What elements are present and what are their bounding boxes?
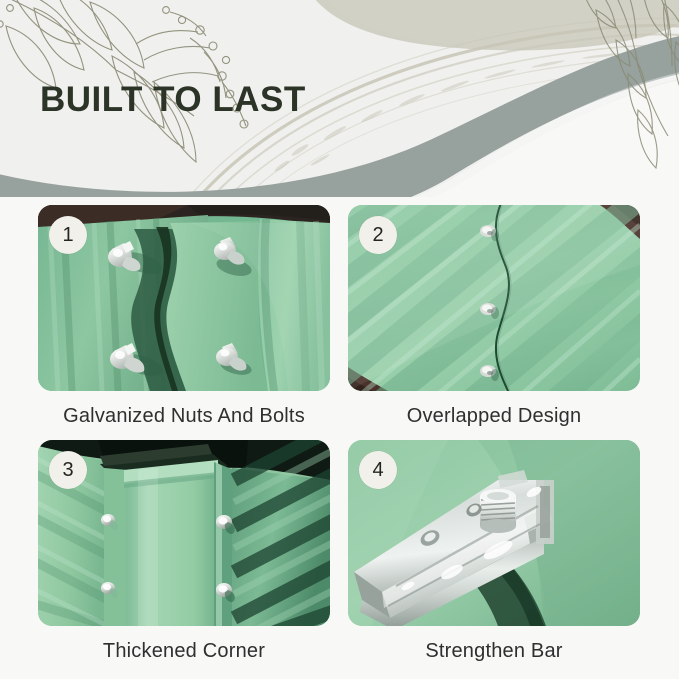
feature-card-4[interactable]: 4 Strengthen Bar <box>348 440 644 663</box>
feature-card-1[interactable]: 1 Galvanized Nuts And Bolts <box>38 205 334 428</box>
page-title: BUILT TO LAST <box>40 82 306 117</box>
photo-strengthen-bar: 4 <box>348 440 640 626</box>
feature-grid: 1 Galvanized Nuts And Bolts <box>0 197 679 679</box>
caption-2: Overlapped Design <box>348 405 640 428</box>
header-banner: BUILT TO LAST <box>0 0 679 197</box>
caption-1: Galvanized Nuts And Bolts <box>38 405 330 428</box>
badge-2: 2 <box>359 216 397 254</box>
caption-3: Thickened Corner <box>38 640 330 663</box>
photo-thickened-corner: 3 <box>38 440 330 626</box>
photo-overlapped-design: 2 <box>348 205 640 391</box>
photo-galvanized-nuts-and-bolts: 1 <box>38 205 330 391</box>
feature-card-2[interactable]: 2 Overlapped Design <box>348 205 644 428</box>
threaded-bolt <box>480 489 516 533</box>
feature-card-3[interactable]: 3 Thickened Corner <box>38 440 334 663</box>
badge-1: 1 <box>49 216 87 254</box>
badge-4: 4 <box>359 451 397 489</box>
caption-4: Strengthen Bar <box>348 640 640 663</box>
badge-3: 3 <box>49 451 87 489</box>
infographic-page: BUILT TO LAST <box>0 0 679 679</box>
